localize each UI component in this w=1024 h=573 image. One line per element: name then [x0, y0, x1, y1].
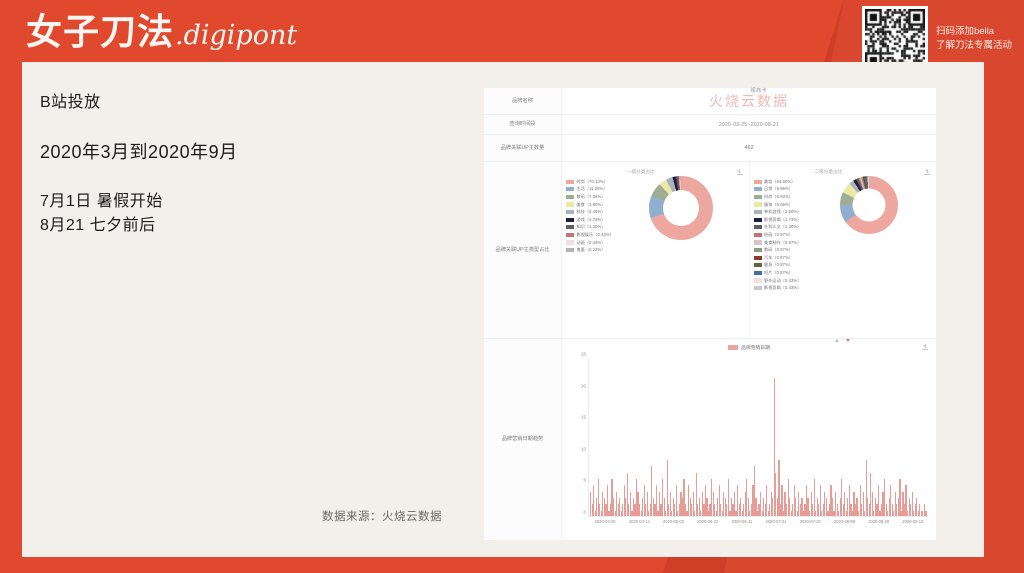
legend-item[interactable]: 汽车（0.87%）: [754, 254, 802, 262]
slide-copy: B站投放 2020年3月到2020年9月 7月1日 暑假开始 8月21 七夕前后: [40, 88, 238, 238]
qr-caption-line2: 了解刀法专属活动: [936, 39, 1012, 53]
legend-label: 绘画（0.87%）: [764, 232, 793, 238]
dashboard-row-trend: 品牌营销日期趋势 品牌营销日期 0510152025 2020-03-25202…: [484, 339, 936, 539]
up-count-value: 462: [562, 135, 936, 161]
trend-legend-swatch: [728, 345, 738, 350]
x-axis-tick: 2020-08-28: [868, 519, 889, 524]
trend-chart-cell: 品牌营销日期 0510152025 2020-03-252020-04-1420…: [562, 339, 936, 539]
legend-item[interactable]: 数码（0.87%）: [754, 246, 802, 254]
y-axis-line: [588, 359, 589, 517]
qr-caption: 扫码添加bella 了解刀法专属活动: [936, 25, 1012, 53]
bar-series: [590, 359, 926, 517]
date-range-value: 2020-03-25~2020-08-21: [562, 115, 936, 134]
legend-item[interactable]: 游戏（1.73%）: [566, 216, 614, 224]
legend-label: 美妆（64.50%）: [764, 179, 795, 185]
up-count-label: 品牌关联UP主数量: [484, 135, 562, 161]
brand-name-value-cell: 火烧云数据 视商卡: [562, 88, 936, 114]
qr-caption-line1: 扫码添加bella: [936, 25, 1012, 39]
legend-item[interactable]: 知识（1.30%）: [566, 224, 614, 232]
legend-label: 生活（11.26%）: [577, 186, 608, 192]
legend-swatch: [754, 263, 762, 267]
legend-label: 社科人文（1.30%）: [764, 224, 801, 230]
y-axis-tick: 0: [584, 510, 586, 515]
legend-label: 游戏（1.73%）: [577, 217, 606, 223]
y-axis-tick: 15: [581, 415, 586, 420]
legend-label: 动画（0.43%）: [577, 240, 606, 246]
x-axis-tick: 2020-06-11: [732, 519, 753, 524]
legend-label: 日常（9.96%）: [764, 186, 793, 192]
legend-label: 美食（3.90%）: [577, 202, 606, 208]
legend-label: 科技（3.46%）: [577, 209, 606, 215]
legend-swatch: [566, 187, 574, 191]
download-icon[interactable]: [737, 169, 743, 175]
legend-swatch: [754, 256, 762, 260]
legend-swatch: [566, 240, 574, 244]
legend-label: 知识（1.30%）: [577, 224, 606, 230]
legend-item[interactable]: 美食制作（0.87%）: [754, 239, 802, 247]
y-axis-tick: 10: [581, 446, 586, 451]
y-axis-tick: 20: [581, 383, 586, 388]
primary-donut: [649, 176, 713, 240]
dashboard-row-date-range: 查询时间段 2020-03-25~2020-08-21: [484, 115, 936, 135]
legend-item[interactable]: 短片（0.87%）: [754, 269, 802, 277]
legend-swatch: [566, 180, 574, 184]
x-axis: 2020-03-252020-04-142020-05-032020-05-23…: [588, 519, 930, 533]
download-icon[interactable]: [922, 344, 928, 350]
dashboard-row-type-ratio: 品牌关联UP主类型占比 一级分类占比 时尚（70.13%）生活（11.26%）数…: [484, 162, 936, 339]
legend-item[interactable]: 影视娱乐（0.43%）: [566, 231, 614, 239]
legend-item[interactable]: 生活（11.26%）: [566, 186, 614, 194]
legend-item[interactable]: 服饰（6.06%）: [754, 201, 802, 209]
legend-swatch: [754, 248, 762, 252]
y-axis-tick: 25: [581, 352, 586, 357]
legend-label: 美食制作（0.87%）: [764, 240, 801, 246]
legend-item[interactable]: 日常（9.96%）: [754, 186, 802, 194]
legend-item[interactable]: 数码（7.36%）: [566, 193, 614, 201]
x-axis-tick: 2020-05-03: [663, 519, 684, 524]
legend-swatch: [754, 195, 762, 199]
legend-item[interactable]: 时尚（6.93%）: [754, 193, 802, 201]
legend-swatch: [754, 233, 762, 237]
dashboard-row-brand-name: 品牌名称 火烧云数据 视商卡: [484, 88, 936, 115]
legend-swatch: [754, 218, 762, 222]
legend-label: 数码（0.87%）: [764, 247, 793, 253]
dashboard-screenshot: 品牌名称 火烧云数据 视商卡 查询时间段 2020-03-25~2020-08-…: [484, 88, 936, 540]
legend-swatch: [566, 225, 574, 229]
legend-swatch: [754, 202, 762, 206]
legend-item[interactable]: 绘画（0.87%）: [754, 231, 802, 239]
copy-line-2: 2020年3月到2020年9月: [40, 138, 238, 164]
legend-item[interactable]: 野外运动（0.43%）: [754, 277, 802, 285]
legend-swatch: [754, 240, 762, 244]
legend-swatch: [754, 286, 762, 290]
x-axis-tick: 2020-05-23: [697, 519, 718, 524]
trend-label: 品牌营销日期趋势: [484, 339, 562, 539]
legend-label: 服饰（6.06%）: [764, 202, 793, 208]
legend-swatch: [754, 180, 762, 184]
copy-line-1: B站投放: [40, 88, 238, 112]
slide-root: 女子刀法 .digipont 扫码添加bella 了解刀法专属活动 B站投放 2…: [0, 0, 1024, 573]
x-axis-tick: 2020-03-25: [595, 519, 616, 524]
legend-label: 健身（0.87%）: [764, 262, 793, 268]
trend-plot: 0510152025 2020-03-252020-04-142020-05-0…: [562, 355, 936, 539]
legend-item[interactable]: 鬼畜（0.22%）: [566, 246, 614, 254]
download-icon[interactable]: [924, 169, 930, 175]
secondary-category-chart: 二级分类占比 美妆（64.50%）日常（9.96%）时尚（6.93%）服饰（6.…: [749, 162, 937, 338]
brand-logo-en: .digipont: [175, 22, 297, 49]
secondary-chart-legend: 美妆（64.50%）日常（9.96%）时尚（6.93%）服饰（6.06%）单机游…: [750, 176, 802, 292]
legend-swatch: [566, 195, 574, 199]
legend-item[interactable]: 美食（3.90%）: [566, 201, 614, 209]
y-axis-tick: 5: [584, 478, 586, 483]
type-ratio-label: 品牌关联UP主类型占比: [484, 162, 562, 338]
primary-chart-title: 一级分类占比: [627, 169, 655, 175]
legend-label: 影视剪辑（0.43%）: [764, 285, 801, 291]
legend-item[interactable]: 美妆（64.50%）: [754, 178, 802, 186]
brand-name-label: 品牌名称: [484, 88, 562, 114]
legend-swatch: [754, 278, 762, 282]
legend-label: 时尚（70.13%）: [577, 179, 608, 185]
secondary-donut: [840, 176, 898, 234]
legend-item[interactable]: 健身（0.87%）: [754, 262, 802, 270]
x-axis-tick: 2020-04-14: [629, 519, 650, 524]
legend-label: 影视娱乐（0.43%）: [577, 232, 614, 238]
brand-logo: 女子刀法 .digipont: [26, 14, 297, 50]
x-axis-tick: 2020-07-01: [766, 519, 787, 524]
legend-label: 短片（0.87%）: [764, 270, 793, 276]
copy-line-3b: 8月21 七夕前后: [40, 214, 238, 238]
legend-label: 时尚（6.93%）: [764, 194, 793, 200]
legend-swatch: [566, 248, 574, 252]
brand-name-superscript: 视商卡: [751, 87, 768, 94]
trend-legend-label: 品牌营销日期: [741, 344, 770, 351]
legend-item[interactable]: 影视剪辑（1.73%）: [754, 216, 802, 224]
brand-logo-cn: 女子刀法: [26, 14, 174, 50]
legend-label: 鬼畜（0.22%）: [577, 247, 606, 253]
legend-item[interactable]: 时尚（70.13%）: [566, 178, 614, 186]
x-axis-tick: 2020-07-20: [800, 519, 821, 524]
primary-category-chart: 一级分类占比 时尚（70.13%）生活（11.26%）数码（7.36%）美食（3…: [562, 162, 749, 338]
data-source-note: 数据来源：火烧云数据: [322, 508, 442, 524]
dashboard-row-up-count: 品牌关联UP主数量 462: [484, 135, 936, 162]
legend-item[interactable]: 单机游戏（2.60%）: [754, 208, 802, 216]
copy-line-3a: 7月1日 暑假开始: [40, 190, 238, 214]
brand-name-value: 火烧云数据: [709, 94, 789, 110]
legend-swatch: [754, 187, 762, 191]
legend-swatch: [754, 225, 762, 229]
primary-chart-legend: 时尚（70.13%）生活（11.26%）数码（7.36%）美食（3.90%）科技…: [562, 176, 614, 254]
legend-swatch: [754, 271, 762, 275]
legend-swatch: [566, 202, 574, 206]
legend-swatch: [566, 233, 574, 237]
trend-legend: 品牌营销日期: [728, 344, 770, 351]
secondary-chart-title: 二级分类占比: [814, 169, 842, 175]
legend-item[interactable]: 动画（0.43%）: [566, 239, 614, 247]
legend-item[interactable]: 社科人文（1.30%）: [754, 224, 802, 232]
x-axis-line: [588, 516, 926, 517]
legend-label: 汽车（0.87%）: [764, 255, 793, 261]
legend-label: 影视剪辑（1.73%）: [764, 217, 801, 223]
y-axis: 0510152025: [568, 359, 588, 517]
legend-label: 单机游戏（2.60%）: [764, 209, 801, 215]
legend-label: 数码（7.36%）: [577, 194, 606, 200]
legend-swatch: [566, 210, 574, 214]
date-range-label: 查询时间段: [484, 115, 562, 134]
x-axis-tick: 2020-09-18: [902, 519, 923, 524]
legend-swatch: [566, 218, 574, 222]
x-axis-tick: 2020-08-09: [834, 519, 855, 524]
legend-item[interactable]: 影视剪辑（0.43%）: [754, 284, 802, 292]
legend-item[interactable]: 科技（3.46%）: [566, 208, 614, 216]
legend-label: 野外运动（0.43%）: [764, 278, 801, 284]
type-ratio-charts: 一级分类占比 时尚（70.13%）生活（11.26%）数码（7.36%）美食（3…: [562, 162, 936, 338]
legend-swatch: [754, 210, 762, 214]
